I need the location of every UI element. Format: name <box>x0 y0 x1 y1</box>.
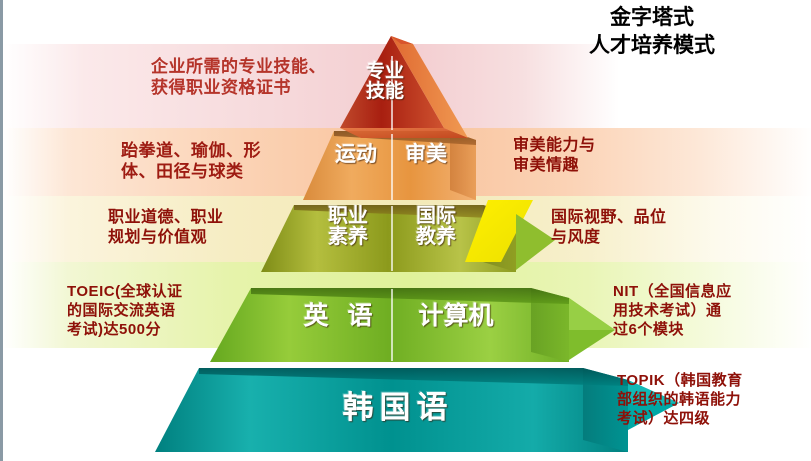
pyramid-label-computer: 计算机 <box>401 303 511 329</box>
pyramid-diagram-canvas: 金字塔式 人才培养模式 企业所需的专业技能、 获得职业资格证书 跆拳道、瑜伽、形… <box>0 0 811 461</box>
pyramid-label-vocational-literacy: 职业 素养 <box>315 206 381 248</box>
diagram-title: 金字塔式 人才培养模式 <box>589 4 715 61</box>
pyramid-label-professional-skill: 专业 技能 <box>355 62 415 102</box>
pyramid-label-english: 英 语 <box>291 303 391 329</box>
level-1-left-description: 企业所需的专业技能、 获得职业资格证书 <box>151 56 326 99</box>
level-4-right-description: NIT（全国信息应 用技术考试）通 过6个模块 <box>613 283 732 339</box>
level-3-left-description: 职业道德、职业 规划与价值观 <box>108 208 224 248</box>
pyramid-label-aesthetics: 审美 <box>395 144 457 166</box>
level-2-right-description: 审美能力与 审美情趣 <box>513 136 596 176</box>
level-4-left-description: TOEIC(全球认证 的国际交流英语 考试)达500分 <box>67 283 183 339</box>
level-3-right-description: 国际视野、品位 与风度 <box>551 208 667 248</box>
level-5-right-description: TOPIK（韩国教育 部组织的韩语能力 考试）达四级 <box>617 372 743 428</box>
pyramid-label-international-literacy: 国际 教养 <box>403 206 469 248</box>
pyramid-label-korean: 韩国语 <box>303 392 493 425</box>
level-2-left-description: 跆拳道、瑜伽、形 体、田径与球类 <box>121 140 261 183</box>
pyramid-label-sports: 运动 <box>325 144 387 166</box>
